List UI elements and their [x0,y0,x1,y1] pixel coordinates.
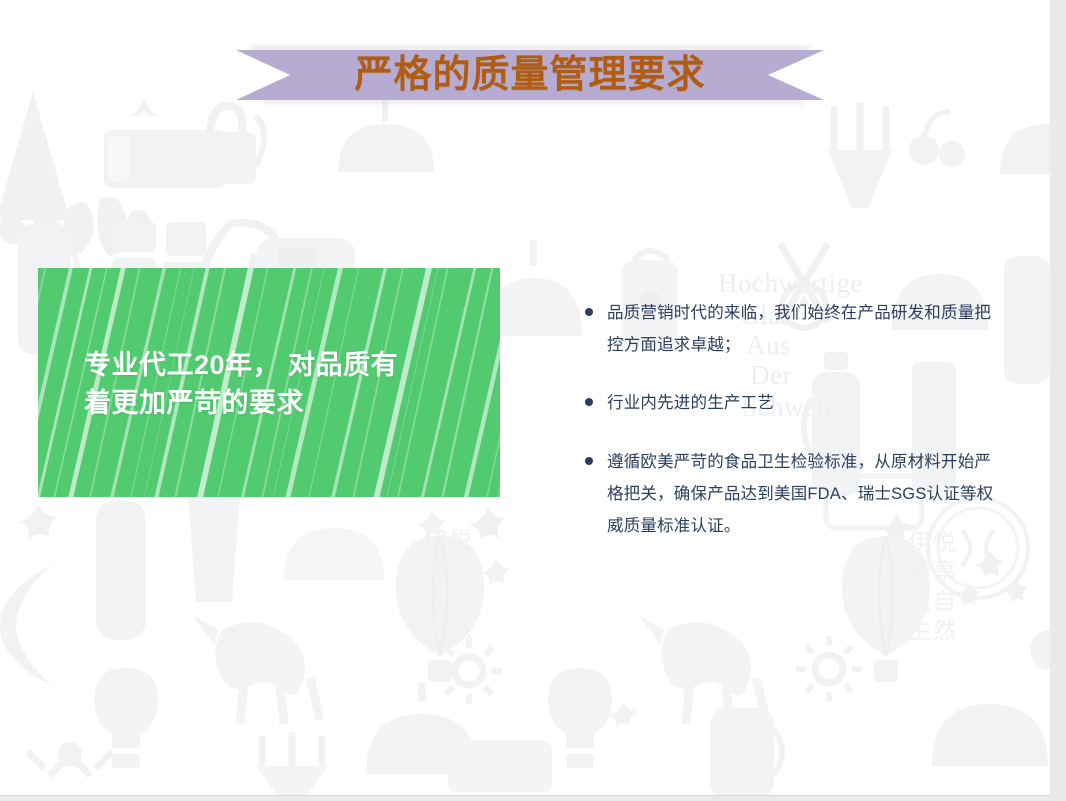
list-item-label: 遵循欧美严苛的食品卫生检验标准，从原材料开始严格把关，确保产品达到美国FDA、瑞… [607,446,998,543]
list-item-label: 品质营销时代的来临，我们始终在产品研发和质量把控方面追求卓越； [607,297,998,361]
flower-icon [1000,576,1032,608]
banner-shadow-bottom [264,99,804,107]
sun-icon [434,636,504,706]
green-callout-box: 专业代工20年， 对品质有 着更加严苛的要求 [38,268,500,497]
jar-icon [440,730,560,795]
slide-frame-right [1050,0,1066,801]
flower-icon [466,504,510,548]
callout-text: 专业代工20年， 对品质有 着更加严苛的要求 [84,346,484,423]
water-bottle-icon [80,492,170,662]
hanger-icon [240,720,350,795]
list-item: 行业内先进的生产工艺 [583,387,998,419]
water-bottle-icon [990,248,1050,398]
lampshade-icon [352,682,492,792]
slide-canvas: Hochwertige Glas Aus Der Schweiz [0,0,1050,795]
list-item: 遵循欧美严苛的食品卫生检验标准，从原材料开始严格把关，确保产品达到美国FDA、瑞… [583,446,998,543]
sun-icon [20,742,120,792]
cup-icon [170,486,260,616]
crescent-icon [0,560,70,690]
hot-air-balloon-icon [382,528,502,698]
watermark-word: Hochwertige [718,268,863,299]
bullet-list: 品质营销时代的来临，我们始终在产品研发和质量把控方面追求卓越； 行业内先进的生产… [583,297,998,542]
pouch-icon [696,694,796,795]
cloud-icon [1024,606,1050,686]
tote-bag-icon [100,122,230,192]
hot-air-balloon-icon [828,528,948,698]
watermark-vertical-text: 伊悦 爱享 人自 生然 [424,526,474,644]
lampshade-icon [268,500,398,600]
bag-strap-icon [236,112,276,172]
list-item-label: 行业内先进的生产工艺 [607,387,998,419]
cherry-icon [906,104,970,174]
lampshade-icon [916,670,1050,790]
lightbulb-icon [82,660,172,780]
flower-icon [606,700,640,734]
hanger-icon [810,96,910,216]
slide-frame-bottom-line [0,795,1050,796]
flower-icon [972,548,1008,584]
sun-icon [794,634,864,704]
lampshade-icon [322,100,452,190]
lightbulb-icon [536,660,626,780]
bullet-dot-icon [585,308,593,316]
title-banner: 严格的质量管理要求 [236,50,824,100]
lampshade-icon [990,100,1050,190]
tree-icon [0,92,98,242]
slide-root: Hochwertige Glas Aus Der Schweiz [0,0,1066,801]
flower-icon [414,508,450,544]
bullet-dot-icon [585,457,593,465]
flower-icon [126,96,162,122]
page-title: 严格的质量管理要求 [236,50,824,100]
list-item: 品质营销时代的来临，我们始终在产品研发和质量把控方面追求卓越； [583,297,998,361]
bullet-dot-icon [585,398,593,406]
handbag-icon [166,98,276,198]
logo-squiggle-icon [0,188,205,256]
unicorn-icon [184,608,344,728]
unicorn-icon [630,608,790,728]
flower-icon [952,580,984,612]
flower-icon [8,498,68,558]
flower-icon [478,556,514,592]
watermark-vertical-text: 伊悦 爱享 人自 生然 [908,528,958,646]
